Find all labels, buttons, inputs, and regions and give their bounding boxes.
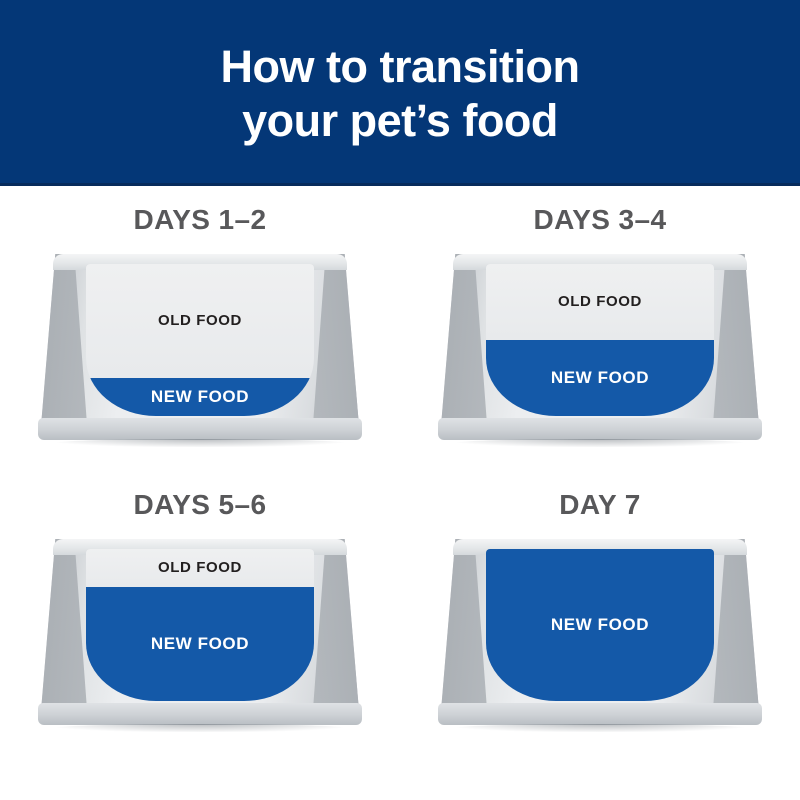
bowl-cavity: NEW FOOD <box>486 549 714 701</box>
new-food-label: NEW FOOD <box>86 387 314 407</box>
bowl-foot <box>38 418 362 440</box>
new-food-label: NEW FOOD <box>86 634 314 654</box>
bowl-shadow <box>455 439 745 447</box>
bowl-cavity: OLD FOOD NEW FOOD <box>86 549 314 701</box>
food-bowl: NEW FOOD <box>441 533 759 729</box>
step-title: DAYS 3–4 <box>534 204 667 236</box>
bowl-shadow <box>55 439 345 447</box>
food-bowl: OLD FOOD NEW FOOD <box>41 533 359 729</box>
bowl-foot <box>38 703 362 725</box>
step-days-5-6: DAYS 5–6 OLD FOOD NEW FOOD <box>0 489 400 774</box>
page-title-line-1: How to transition <box>221 40 580 94</box>
new-food-label: NEW FOOD <box>486 368 714 388</box>
food-bowl: OLD FOOD NEW FOOD <box>441 248 759 444</box>
bowl-shadow <box>455 724 745 732</box>
step-days-1-2: DAYS 1–2 OLD FOOD NEW FOOD <box>0 204 400 489</box>
bowl-cavity: OLD FOOD NEW FOOD <box>486 264 714 416</box>
header-banner: How to transition your pet’s food <box>0 0 800 186</box>
bowl-cavity: OLD FOOD NEW FOOD <box>86 264 314 416</box>
step-days-3-4: DAYS 3–4 OLD FOOD NEW FOOD <box>400 204 800 489</box>
new-food-label: NEW FOOD <box>486 615 714 635</box>
old-food-label: OLD FOOD <box>86 312 314 329</box>
old-food-label: OLD FOOD <box>486 293 714 310</box>
step-title: DAYS 5–6 <box>134 489 267 521</box>
bowl-foot <box>438 418 762 440</box>
step-day-7: DAY 7 NEW FOOD <box>400 489 800 774</box>
food-bowl: OLD FOOD NEW FOOD <box>41 248 359 444</box>
step-title: DAY 7 <box>559 489 640 521</box>
old-food-label: OLD FOOD <box>86 559 314 576</box>
bowl-shadow <box>55 724 345 732</box>
page-title-line-2: your pet’s food <box>242 94 558 148</box>
step-title: DAYS 1–2 <box>134 204 267 236</box>
bowl-foot <box>438 703 762 725</box>
transition-steps-grid: DAYS 1–2 OLD FOOD NEW FOOD DAYS 3–4 <box>0 186 800 800</box>
